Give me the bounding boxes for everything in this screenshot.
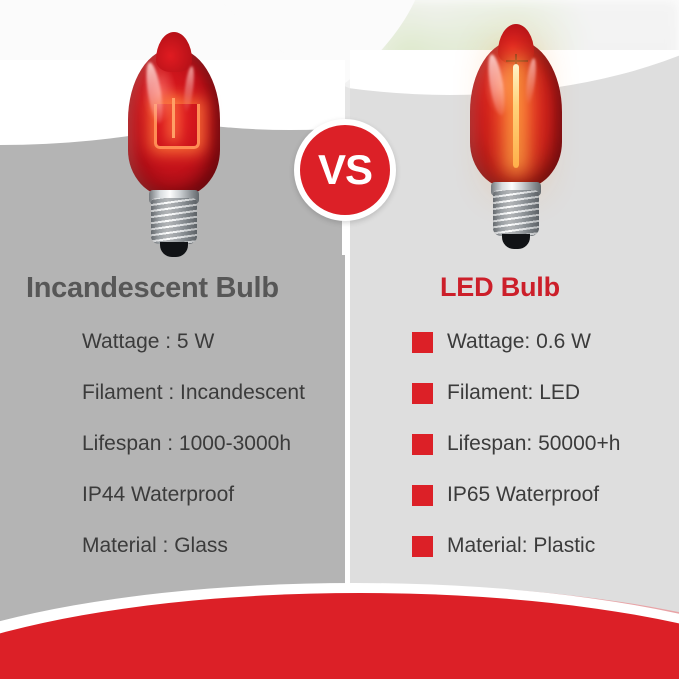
bulb-screw-base [151, 198, 197, 244]
list-item: Filament: LED [412, 382, 674, 433]
led-bulb-image [470, 40, 562, 255]
list-item: Filament : Incandescent [82, 382, 344, 433]
bullet-square-icon [412, 485, 433, 506]
led-filament-icon [513, 64, 519, 168]
bulb-screw-base [493, 190, 539, 236]
list-item: IP65 Waterproof [412, 484, 674, 535]
bulb-foot-contact [502, 234, 530, 249]
led-filament-crossbar-icon [506, 60, 528, 62]
bulb-screw-threads [493, 190, 539, 236]
bulb-screw-threads [151, 198, 197, 244]
list-item-label: IP65 Waterproof [447, 484, 599, 505]
led-title: LED Bulb [440, 272, 560, 303]
incandescent-title: Incandescent Bulb [26, 272, 326, 305]
list-item: Lifespan: 50000+h [412, 433, 674, 484]
list-item-label: Lifespan: 50000+h [447, 433, 620, 454]
bullet-square-icon [412, 434, 433, 455]
incandescent-spec-list: Wattage : 5 W Filament : Incandescent Li… [82, 331, 344, 586]
bullet-square-icon [412, 383, 433, 404]
bulb-foot-contact [160, 242, 188, 257]
vs-badge-label: VS [318, 149, 372, 191]
vs-badge: VS [294, 119, 396, 221]
bullet-square-icon [412, 332, 433, 353]
list-item: Lifespan : 1000-3000h [82, 433, 344, 484]
incandescent-bulb-image [128, 48, 220, 263]
list-item: IP44 Waterproof [82, 484, 344, 535]
bottom-decorative-band [0, 549, 679, 679]
comparison-infographic: VS Incandescent Bulb LED Bulb Wattage : … [0, 0, 679, 679]
led-spec-list: Wattage: 0.6 W Filament: LED Lifespan: 5… [412, 331, 674, 586]
list-item-label: Wattage: 0.6 W [447, 331, 591, 352]
list-item: Wattage: 0.6 W [412, 331, 674, 382]
list-item: Wattage : 5 W [82, 331, 344, 382]
incandescent-filament-stem-icon [172, 98, 175, 138]
list-item-label: Filament: LED [447, 382, 580, 403]
